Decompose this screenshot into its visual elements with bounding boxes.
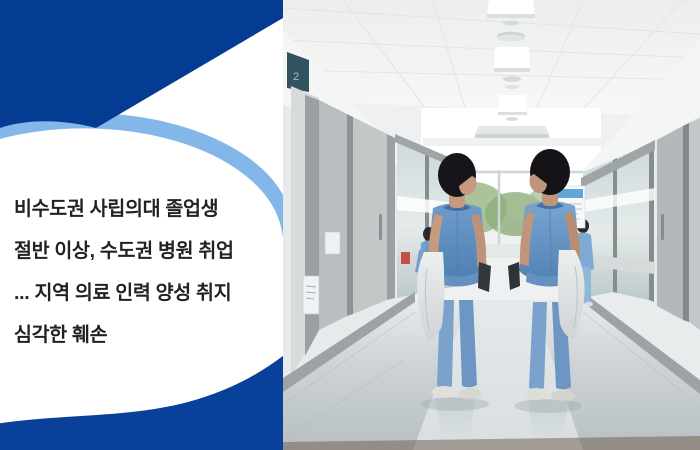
- svg-text:2: 2: [293, 71, 299, 83]
- headline: 비수도권 사립의대 졸업생 절반 이상, 수도권 병원 취업 ... 지역 의료…: [14, 188, 283, 356]
- fire-alarm-box: [401, 252, 410, 264]
- headline-line-4: 심각한 훼손: [14, 314, 283, 356]
- headline-line-3: ... 지역 의료 인력 양성 취지: [14, 272, 283, 314]
- news-card: 비수도권 사립의대 졸업생 절반 이상, 수도권 병원 취업 ... 지역 의료…: [0, 0, 700, 450]
- right-person-clipboard: [508, 262, 520, 290]
- headline-panel: 비수도권 사립의대 졸업생 절반 이상, 수도권 병원 취업 ... 지역 의료…: [0, 0, 283, 450]
- corridor-illustration: 2: [283, 0, 700, 450]
- headline-line-1: 비수도권 사립의대 졸업생: [14, 188, 283, 230]
- right-door: [657, 118, 700, 330]
- left-person-shoe-left: [432, 386, 456, 398]
- hospital-corridor-photo: 2: [283, 0, 700, 450]
- left-person-notebook: [478, 262, 491, 292]
- right-person-shoe-left: [524, 388, 548, 400]
- headline-line-2: 절반 이상, 수도권 병원 취업: [14, 230, 283, 272]
